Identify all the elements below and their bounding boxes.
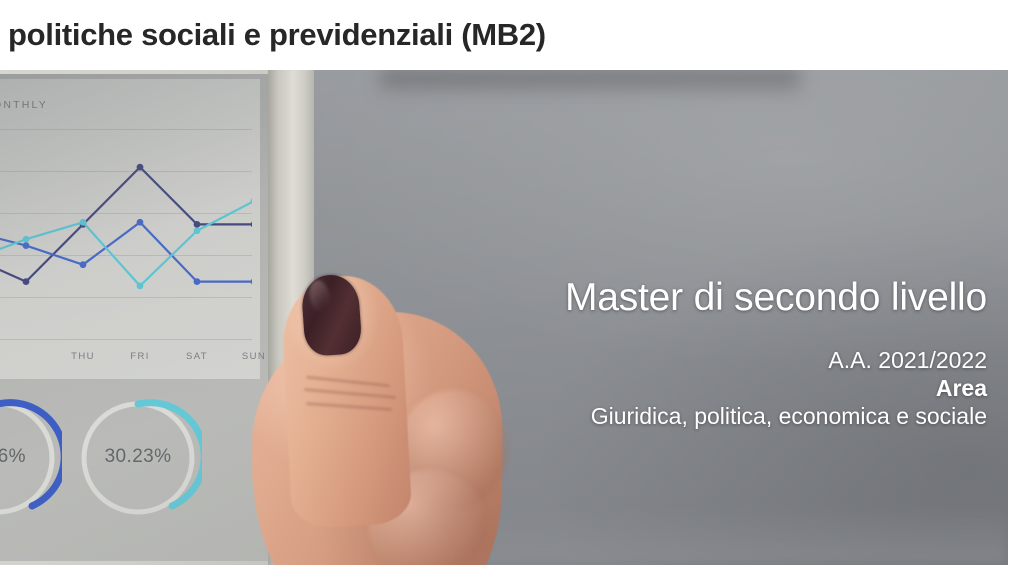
- chart-line-series-navy: [0, 167, 252, 281]
- area-label: Area: [447, 374, 987, 402]
- chart-point: [194, 278, 201, 285]
- slide-header: politiche sociali e previdenziali (MB2): [0, 0, 1024, 70]
- chart-point: [137, 164, 144, 171]
- axis-tick-label: SAT: [186, 351, 208, 362]
- chart-point: [194, 221, 201, 228]
- overlay-text-block: Master di secondo livello A.A. 2021/2022…: [447, 275, 987, 430]
- chart-point: [194, 227, 201, 234]
- donut-right-value: 30.23%: [74, 446, 202, 468]
- chart-point: [137, 219, 144, 226]
- axis-tick-label: FRI: [130, 351, 150, 362]
- page-bottom-margin: [0, 565, 1024, 576]
- slide-canvas: politiche sociali e previdenziali (MB2) …: [0, 0, 1024, 576]
- chart-x-axis: THUFRISATSUN: [0, 351, 252, 371]
- donut-gauges: 1.86% 30.23%: [0, 382, 260, 561]
- chart-point: [23, 242, 30, 249]
- wall-shadow-top: [380, 70, 800, 96]
- chart-line-series-blue: [0, 222, 252, 281]
- chart-point: [80, 219, 87, 226]
- page-right-margin: [1008, 70, 1024, 565]
- overlay-heading: Master di secondo livello: [447, 275, 987, 321]
- donut-left-value: 1.86%: [0, 446, 62, 468]
- academic-year: A.A. 2021/2022: [447, 346, 987, 374]
- line-chart-card: MONTHLY THUFRISATSUN: [0, 79, 260, 379]
- chart-line-series-cyan: [0, 201, 252, 286]
- chart-point: [23, 278, 30, 285]
- background-photo: MONTHLY THUFRISATSUN: [0, 70, 1008, 565]
- page-title: politiche sociali e previdenziali (MB2): [8, 17, 546, 53]
- chart-point: [137, 282, 144, 289]
- donut-right: 30.23%: [74, 394, 202, 522]
- axis-tick-label: THU: [71, 351, 95, 362]
- donut-left: 1.86%: [0, 394, 62, 522]
- tablet-screen: MONTHLY THUFRISATSUN: [0, 74, 268, 561]
- chart-point: [80, 261, 87, 268]
- line-chart-plot: [0, 79, 252, 379]
- area-value: Giuridica, politica, economica e sociale: [447, 402, 987, 430]
- chart-point: [23, 236, 30, 243]
